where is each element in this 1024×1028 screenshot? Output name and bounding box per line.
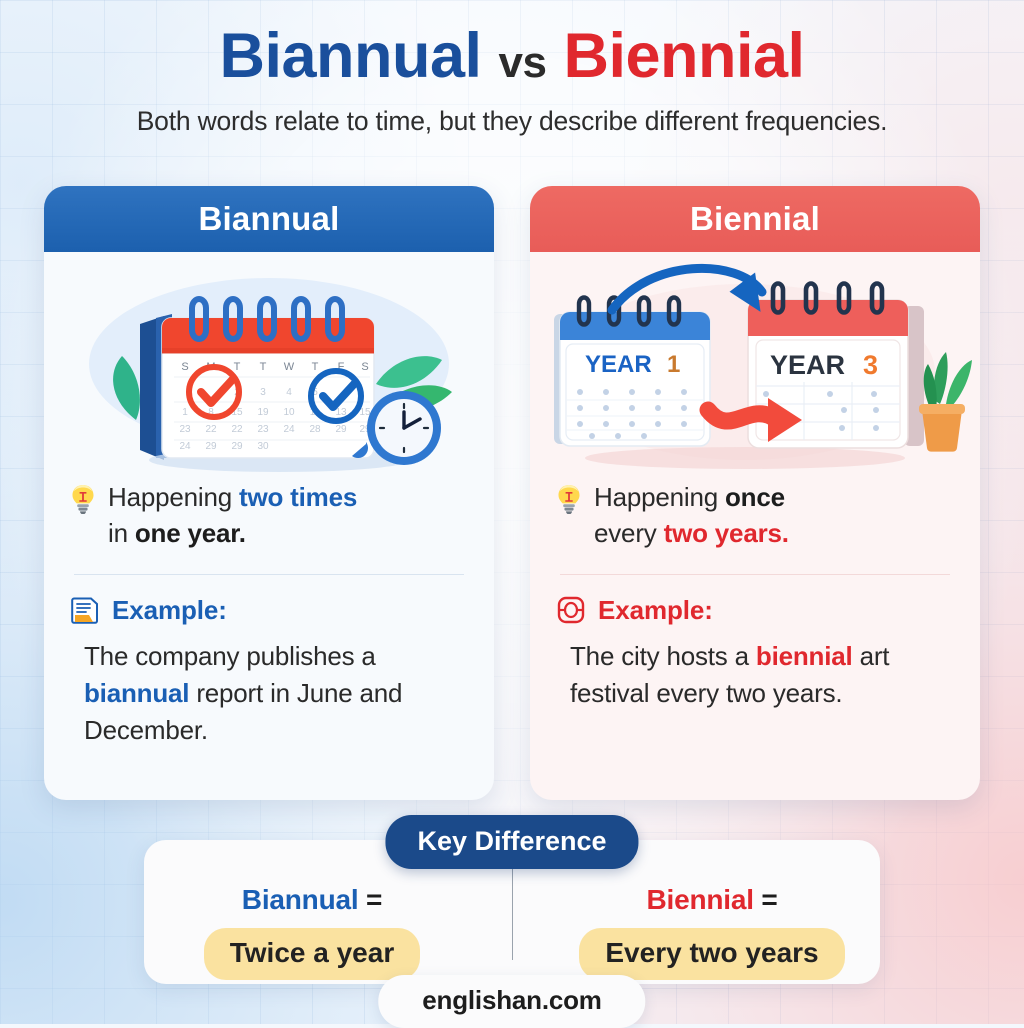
definition-line2-highlight: two years xyxy=(664,518,782,548)
svg-text:T: T xyxy=(234,361,241,373)
example-heading-biannual: Example: xyxy=(70,595,468,626)
target-icon xyxy=(556,595,586,625)
key-term-biannual: Biannual = xyxy=(132,884,492,916)
title-connector-vs: vs xyxy=(499,38,547,87)
lightbulb-icon xyxy=(70,484,96,514)
key-answer-biennial: Every two years xyxy=(579,928,844,980)
key-difference-column-right: Biennial = Every two years xyxy=(532,884,892,980)
svg-text:3: 3 xyxy=(863,350,878,380)
key-difference-badge: Key Difference xyxy=(385,815,638,869)
svg-text:S: S xyxy=(181,361,188,373)
calendar-year-1: YEAR 1 xyxy=(554,298,710,447)
definition-line2-highlight: one year xyxy=(135,518,239,548)
card-header-biannual: Biannual xyxy=(44,186,494,252)
example-heading-biennial: Example: xyxy=(556,595,954,626)
svg-text:23: 23 xyxy=(179,424,191,435)
svg-text:22: 22 xyxy=(231,424,243,435)
svg-text:10: 10 xyxy=(283,407,295,418)
example-label-biennial: Example: xyxy=(598,595,713,626)
potted-plant xyxy=(919,352,972,452)
svg-text:T: T xyxy=(260,361,267,373)
example-label-biannual: Example: xyxy=(112,595,227,626)
page-title: Biannual vs Biennial xyxy=(0,20,1024,92)
svg-text:W: W xyxy=(284,361,295,373)
site-footer-badge[interactable]: englishan.com xyxy=(378,975,645,1028)
key-term-equals: = xyxy=(366,884,382,915)
definition-line2-tail: . xyxy=(239,518,246,548)
calendar-year1-label: YEAR xyxy=(585,351,652,378)
memo-icon xyxy=(70,595,100,625)
svg-text:1: 1 xyxy=(182,407,188,418)
definition-text-biannual: Happening two times in one year. xyxy=(108,480,357,552)
card-biannual: Biannual xyxy=(44,186,494,800)
title-word-biennial: Biennial xyxy=(563,21,804,91)
example-text-highlight: biennial xyxy=(756,641,853,671)
svg-text:30: 30 xyxy=(257,441,269,452)
definition-line1-highlight: once xyxy=(725,482,785,512)
key-term-label: Biannual xyxy=(242,884,359,915)
example-text-before: The city hosts a xyxy=(570,641,756,671)
card-biennial: Biennial YEAR 1 xyxy=(530,186,980,800)
calendar-year3-label: YEAR xyxy=(770,350,845,380)
svg-text:19: 19 xyxy=(257,407,269,418)
card-divider-biennial xyxy=(560,574,950,575)
header: Biannual vs Biennial Both words relate t… xyxy=(0,0,1024,137)
key-answer-biannual: Twice a year xyxy=(204,928,420,980)
illustration-biannual-calendar: SMT TWT FS 2345 181519 10111315 23222223… xyxy=(44,252,494,474)
svg-text:1: 1 xyxy=(667,351,680,378)
svg-text:24: 24 xyxy=(283,424,295,435)
lightbulb-icon xyxy=(556,484,582,514)
svg-text:23: 23 xyxy=(257,424,269,435)
definition-line2-plain: every xyxy=(594,518,664,548)
svg-text:22: 22 xyxy=(205,424,217,435)
key-term-equals: = xyxy=(761,884,777,915)
definition-line1-plain: Happening xyxy=(108,482,239,512)
definition-biannual: Happening two times in one year. xyxy=(70,474,468,552)
title-word-biannual: Biannual xyxy=(219,21,481,91)
definition-line1-plain: Happening xyxy=(594,482,725,512)
key-difference-divider xyxy=(512,862,513,960)
svg-text:29: 29 xyxy=(231,441,243,452)
card-divider-biannual xyxy=(74,574,464,575)
key-difference-column-left: Biannual = Twice a year xyxy=(132,884,492,980)
key-term-biennial: Biennial = xyxy=(532,884,892,916)
svg-text:4: 4 xyxy=(286,387,292,398)
definition-line2-plain: in xyxy=(108,518,135,548)
svg-text:28: 28 xyxy=(309,424,321,435)
key-term-label: Biennial xyxy=(646,884,753,915)
definition-biennial: Happening once every two years. xyxy=(556,474,954,552)
card-header-biennial: Biennial xyxy=(530,186,980,252)
illustration-biennial-two-calendars: YEAR 1 xyxy=(530,252,980,474)
page-subtitle: Both words relate to time, but they desc… xyxy=(0,106,1024,137)
svg-text:T: T xyxy=(312,361,319,373)
card-body-biennial: Happening once every two years. Example:… xyxy=(530,474,980,712)
card-body-biannual: Happening two times in one year. Example… xyxy=(44,474,494,748)
example-text-highlight: biannual xyxy=(84,678,189,708)
svg-text:24: 24 xyxy=(179,441,191,452)
definition-text-biennial: Happening once every two years. xyxy=(594,480,789,552)
svg-text:S: S xyxy=(361,361,368,373)
svg-text:29: 29 xyxy=(335,424,347,435)
definition-line1-highlight: two times xyxy=(239,482,357,512)
definition-line2-tail: . xyxy=(782,518,789,548)
svg-text:29: 29 xyxy=(205,441,217,452)
example-text-biennial: The city hosts a biennial art festival e… xyxy=(570,638,954,712)
svg-text:3: 3 xyxy=(260,387,266,398)
example-text-before: The company publishes a xyxy=(84,641,376,671)
example-text-biannual: The company publishes a biannual report … xyxy=(84,638,468,749)
